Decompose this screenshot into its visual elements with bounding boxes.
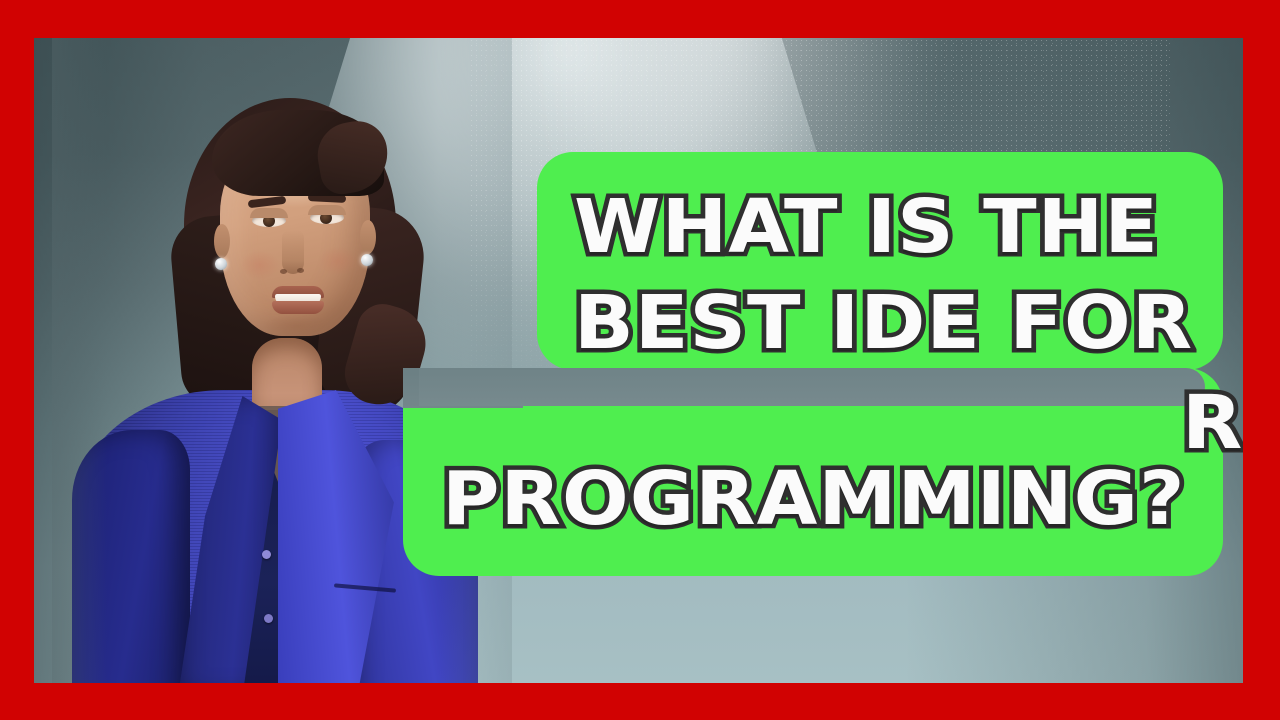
backdrop-grain bbox=[469, 38, 1170, 438]
ear-left bbox=[214, 224, 230, 258]
thumbnail-frame: WHAT IS THE BEST IDE FOR R PROGRAMMING? bbox=[0, 0, 1280, 720]
blazer-button-lower bbox=[264, 614, 273, 623]
nostril-left bbox=[280, 269, 287, 274]
cheek-right bbox=[318, 246, 358, 276]
earring-right bbox=[361, 254, 373, 266]
eyelid-left bbox=[250, 208, 288, 218]
blazer-sleeve-left bbox=[72, 430, 190, 683]
nostril-right bbox=[297, 268, 304, 273]
blazer-button-upper bbox=[262, 550, 271, 559]
eyelid-right bbox=[308, 205, 346, 215]
ear-right bbox=[360, 220, 376, 254]
thumbnail-canvas: WHAT IS THE BEST IDE FOR R PROGRAMMING? bbox=[34, 38, 1243, 683]
lower-lip bbox=[272, 301, 324, 314]
earring-left bbox=[215, 258, 227, 270]
chin-shadow bbox=[264, 314, 330, 338]
cheek-left bbox=[240, 250, 280, 280]
portrait-photo bbox=[82, 38, 482, 683]
